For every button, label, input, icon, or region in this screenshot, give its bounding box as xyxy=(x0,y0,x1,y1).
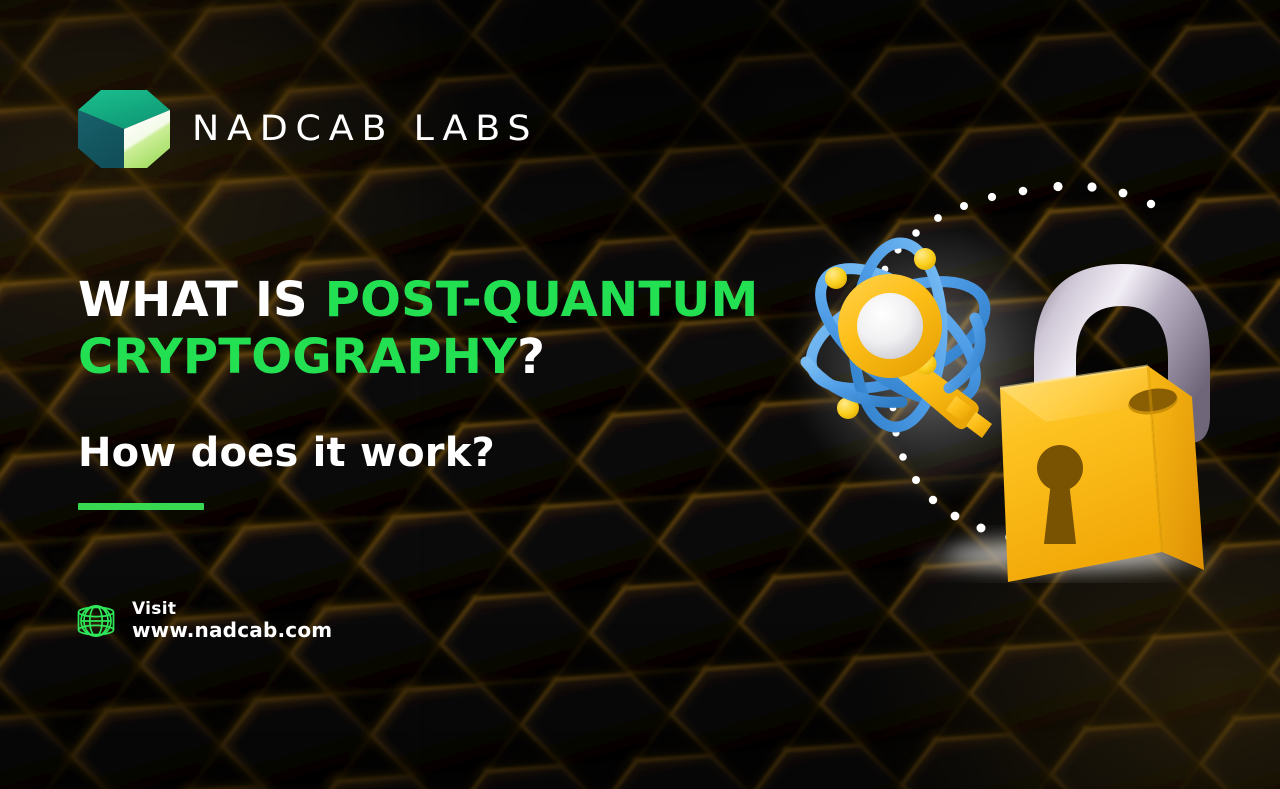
visit-block[interactable]: Visit www.nadcab.com xyxy=(74,596,332,646)
key-head-center xyxy=(857,293,923,359)
banner-canvas: NADCAB LABS WHAT IS POST-QUANTUM CRYPTOG… xyxy=(0,0,1280,789)
headline-lead: WHAT IS xyxy=(78,272,325,328)
electron-node xyxy=(825,267,847,289)
page-title: WHAT IS POST-QUANTUM CRYPTOGRAPHY? xyxy=(78,272,778,385)
quantum-padlock-illustration xyxy=(770,150,1250,610)
globe-icon xyxy=(74,596,118,646)
headline-question-mark: ? xyxy=(517,329,545,385)
padlock-icon xyxy=(1000,264,1210,586)
brand-logo[interactable]: NADCAB LABS xyxy=(78,88,525,170)
accent-rule-divider xyxy=(78,503,204,510)
visit-label: Visit xyxy=(132,600,332,619)
brand-wordmark: NADCAB LABS xyxy=(192,109,538,149)
page-subtitle: How does it work? xyxy=(78,430,495,476)
electron-node xyxy=(914,248,936,270)
atom-key-icon xyxy=(796,242,1000,438)
hexagon-cube-logo-icon xyxy=(78,88,170,170)
visit-text-group: Visit www.nadcab.com xyxy=(132,600,332,641)
visit-url[interactable]: www.nadcab.com xyxy=(132,619,332,641)
